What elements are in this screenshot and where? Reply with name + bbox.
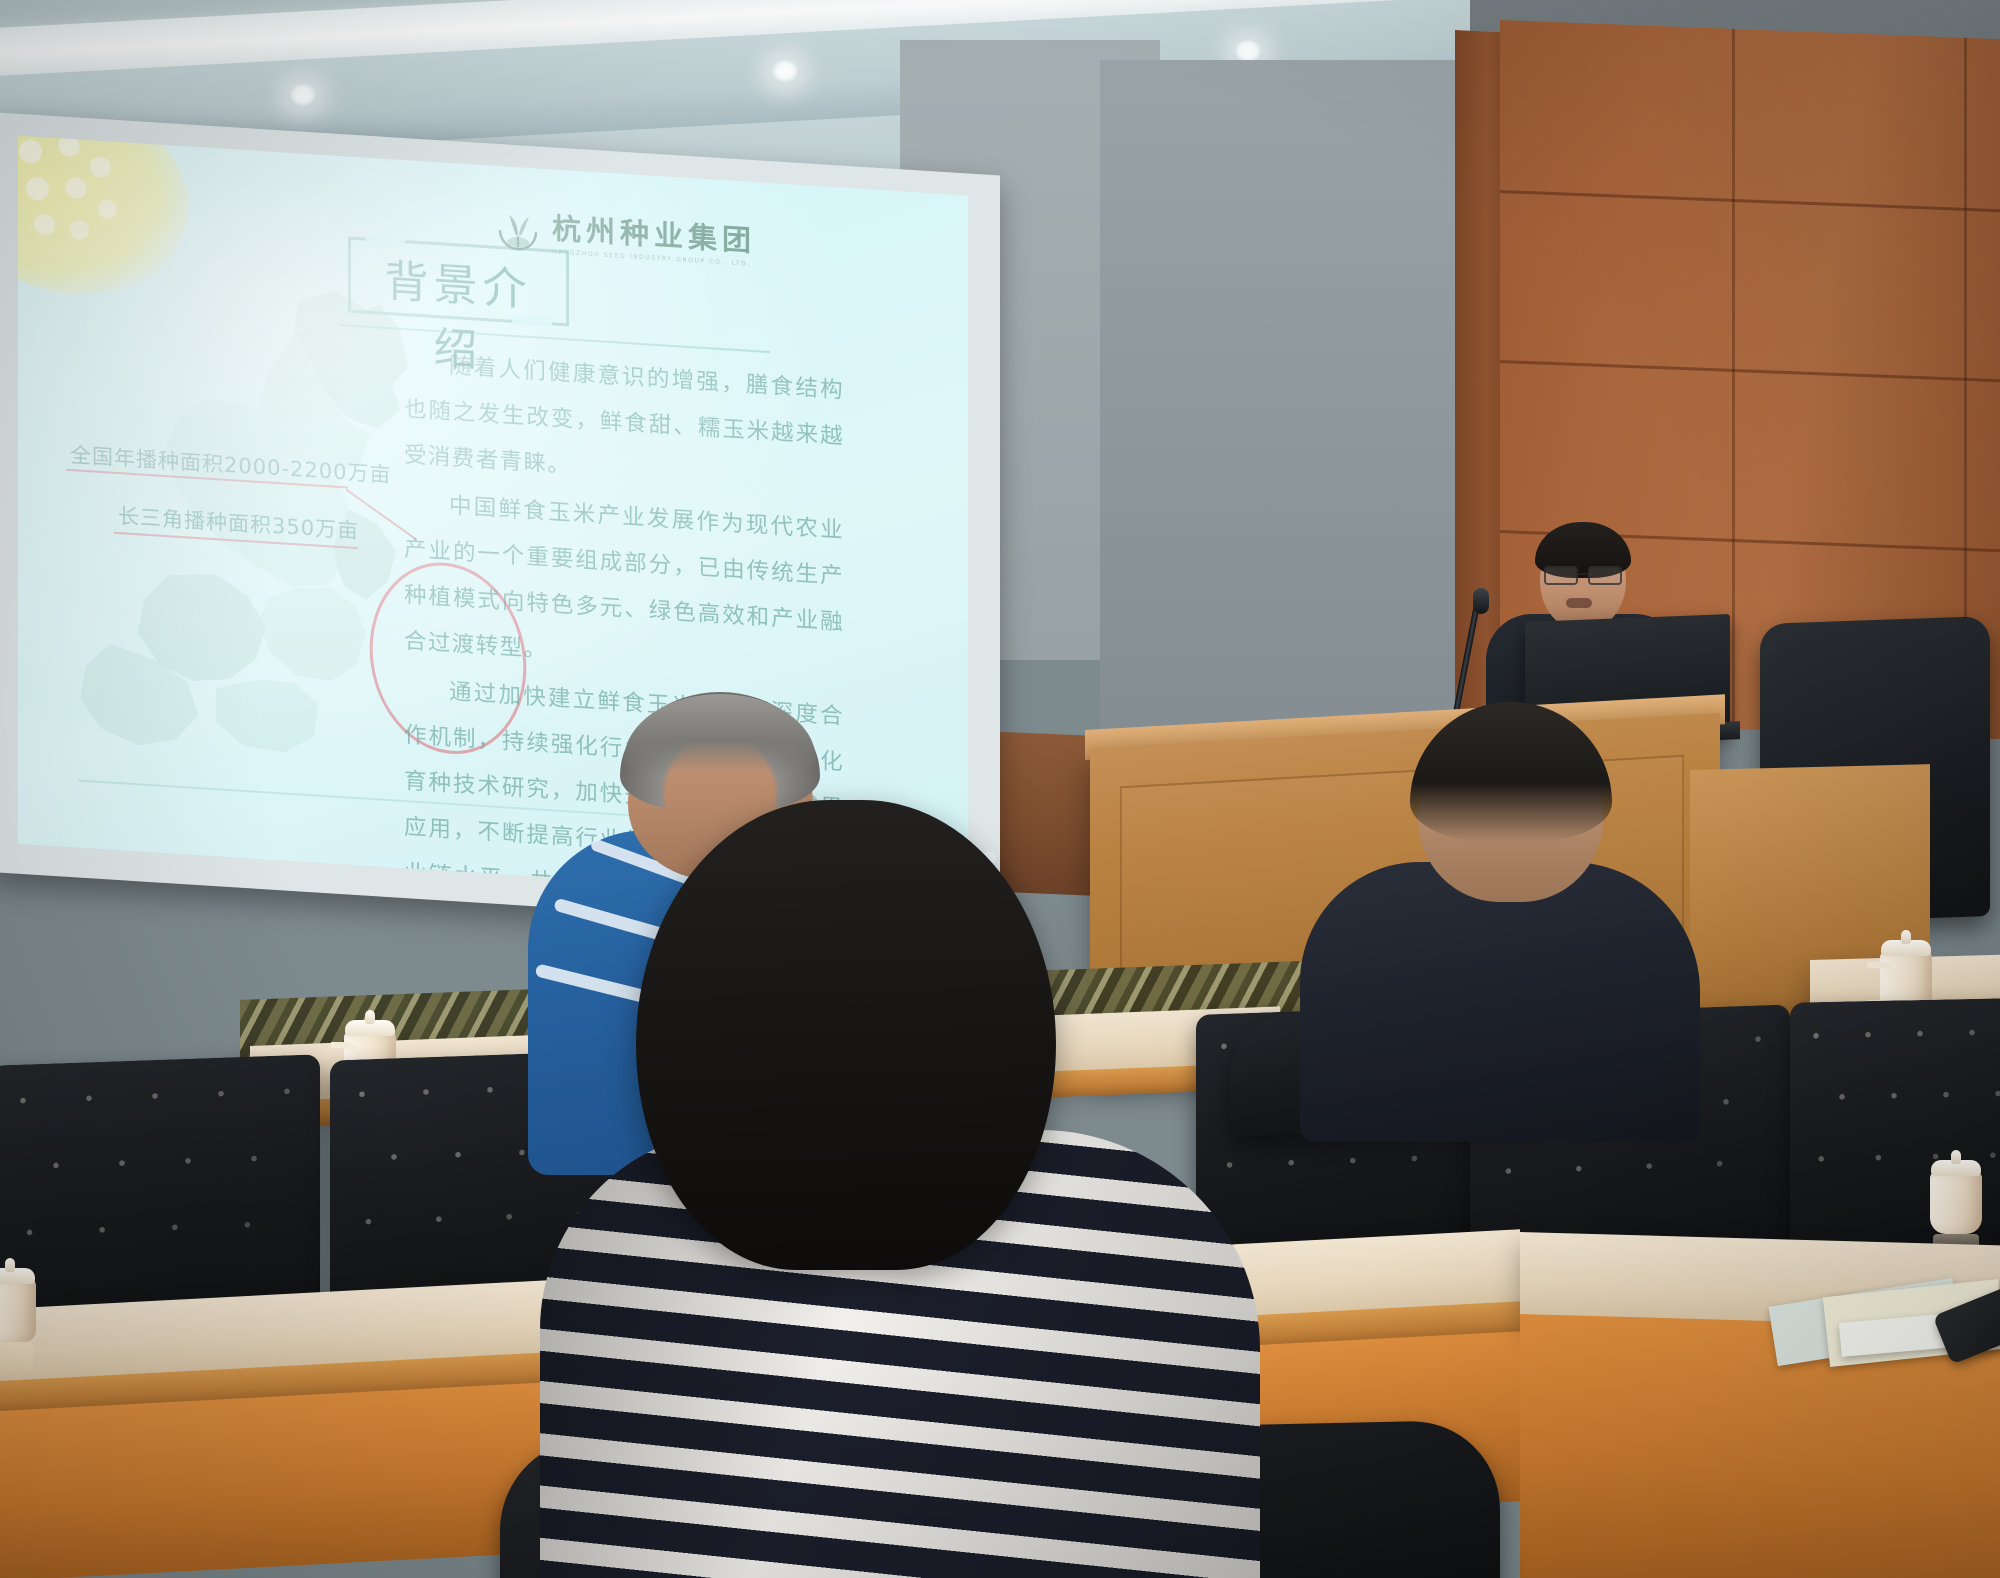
presenter-mouth	[1566, 598, 1592, 608]
attendee-striped-top	[540, 800, 1260, 1578]
microphone-head	[1473, 588, 1489, 614]
attendee-suit	[1300, 712, 1700, 1132]
attendee-suit-jacket	[1300, 862, 1700, 1142]
slide-paragraph-2: 中国鲜食玉米产业发展作为现代农业产业的一个重要组成部分，已由传统生产种植模式向特…	[404, 480, 844, 692]
conference-room-scene: 杭州种业集团 HANGZHOU SEED INDUSTRY GROUP CO.,…	[0, 0, 2000, 1578]
slide-paragraph-1: 随着人们健康意识的增强，膳食结构也随之发生改变，鲜食甜、糯玉米越来越受消费者青睐…	[404, 340, 844, 506]
glasses-icon	[1544, 566, 1622, 582]
attendee-blue-hair-top	[624, 694, 816, 772]
downlight-2	[770, 60, 800, 84]
downlight-1	[288, 84, 318, 108]
attendee-suit-hair	[1410, 702, 1612, 842]
attendee-striped-hair	[636, 800, 1056, 1270]
